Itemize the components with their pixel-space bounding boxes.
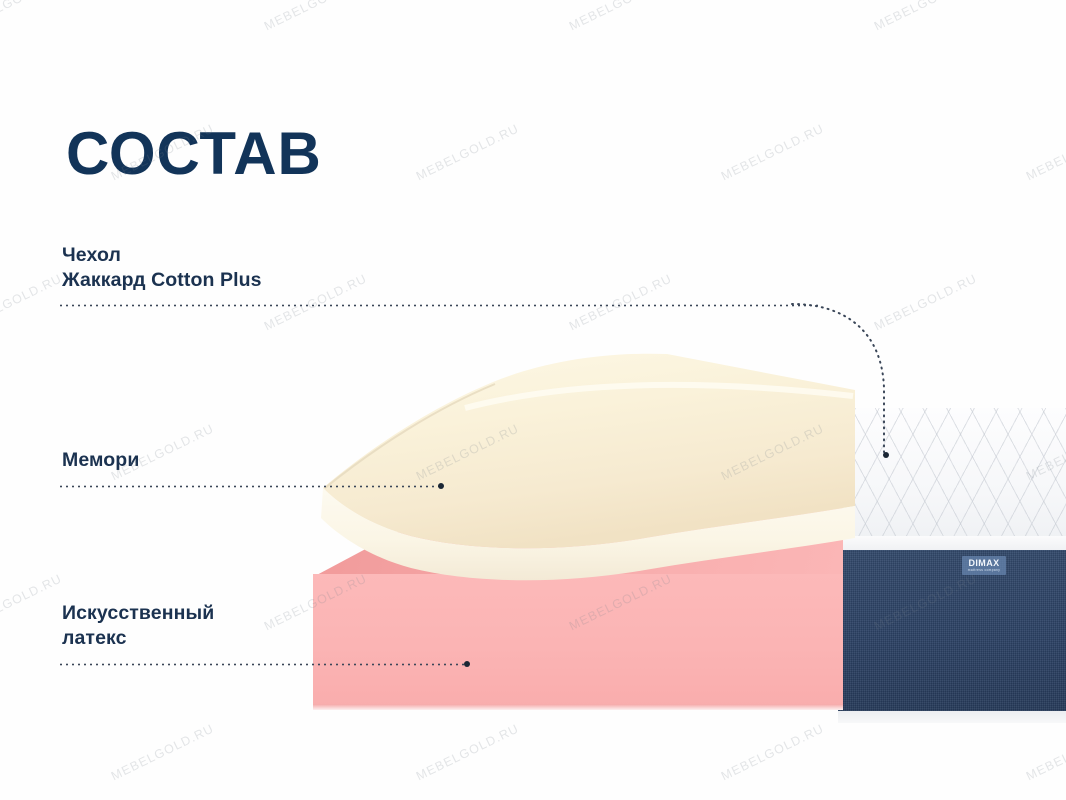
layer-label-memory-line1: Мемори	[62, 448, 139, 473]
latex-layer-front-face	[313, 574, 843, 706]
latex-layer-foot-shadow	[313, 704, 843, 710]
side-panel-navy	[838, 550, 1066, 711]
composition-infographic: DIMAX mattress company	[0, 0, 1066, 800]
layer-label-latex-line2: латекс	[62, 626, 214, 651]
layer-label-cover-line1: Чехол	[62, 243, 262, 268]
page-title: СОСТАВ	[66, 124, 322, 184]
leader-endpoint-latex	[464, 661, 470, 667]
memory-layer-slab	[315, 348, 855, 576]
leader-endpoint-cover	[883, 452, 889, 458]
leader-line-memory	[58, 485, 442, 488]
memory-foam-shape	[315, 348, 855, 576]
layer-label-cover-line2: Жаккард Cotton Plus	[62, 268, 262, 293]
leader-line-latex	[58, 663, 468, 666]
dimax-brand-tag: DIMAX mattress company	[962, 556, 1006, 575]
leader-line-cover	[58, 304, 818, 307]
leader-endpoint-memory	[438, 483, 444, 489]
dimax-brand-subtitle: mattress company	[968, 568, 1000, 573]
cover-layer-edge-band	[843, 536, 1066, 550]
layer-label-latex: Искусственный латекс	[62, 601, 214, 651]
leader-line-cover-curve	[790, 296, 910, 464]
layer-label-cover: Чехол Жаккард Cotton Plus	[62, 243, 262, 293]
layer-label-memory: Мемори	[62, 448, 139, 473]
layer-label-latex-line1: Искусственный	[62, 601, 214, 626]
side-panel-foot-band	[838, 711, 1066, 723]
dimax-brand-name: DIMAX	[969, 559, 1000, 568]
